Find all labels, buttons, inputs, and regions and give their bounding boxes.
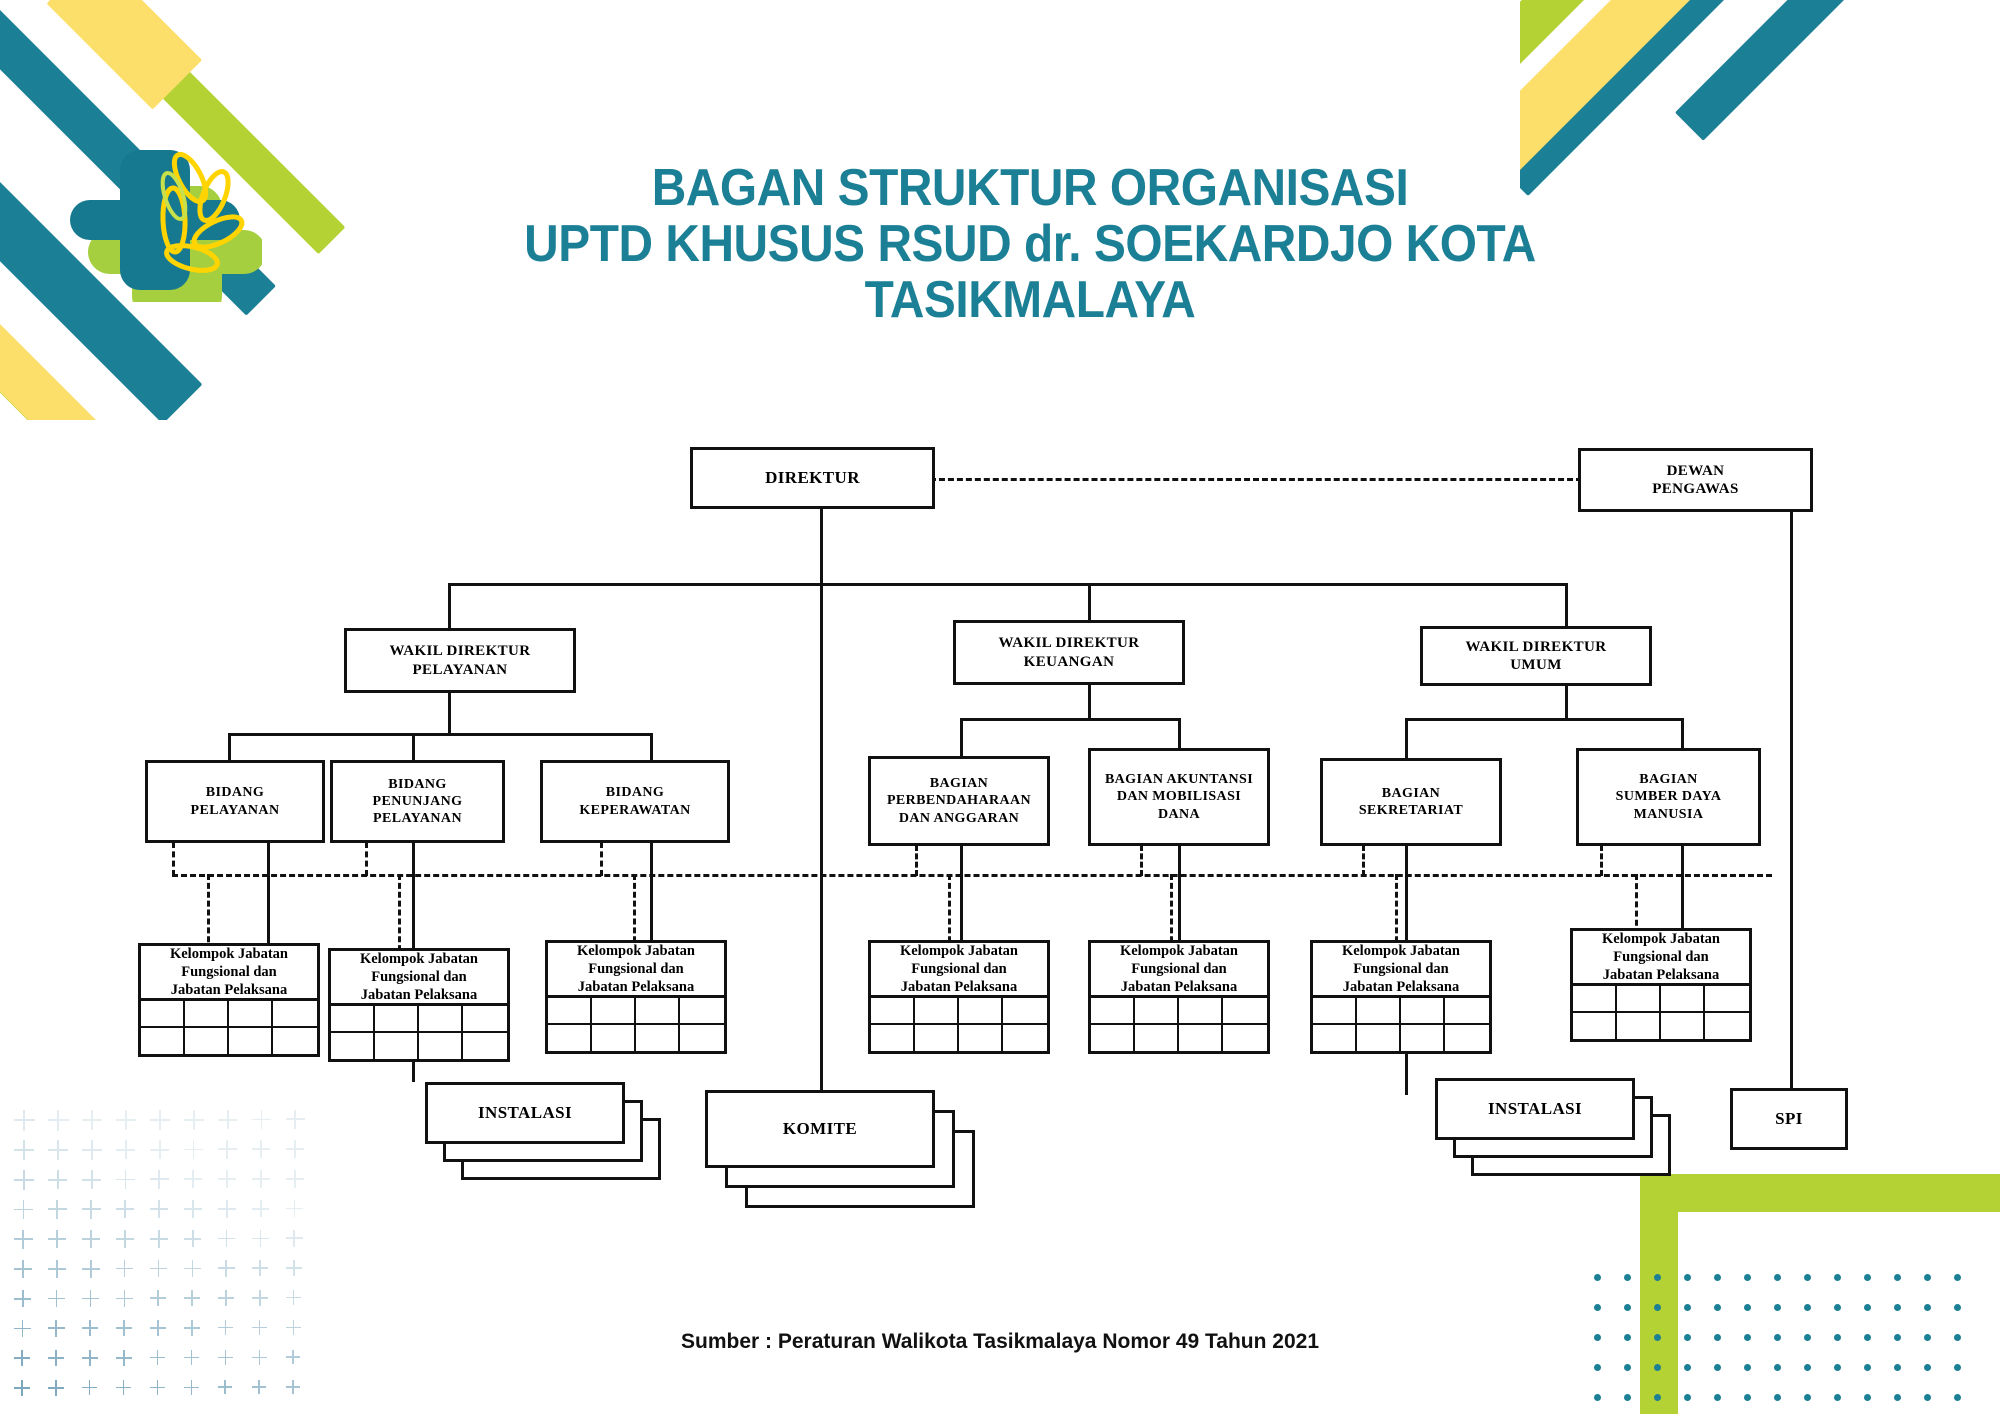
kjf-cell [1091,1025,1135,1052]
kjf-cell [636,1025,680,1052]
kjf-label: Kelompok Jabatan Fungsional dan Jabatan … [868,940,1050,998]
kjf-grid [1310,998,1492,1054]
kjf-cell [1223,1025,1267,1052]
kjf-cell [548,998,592,1025]
kjf-cell [141,1001,185,1028]
edge-bidang-bar [228,733,650,736]
kjf-cell [1179,1025,1223,1052]
kjf-cell [273,1001,317,1028]
kjf-cell [871,998,915,1025]
kjf-cell [1445,1025,1489,1052]
kjf-cell [1705,1013,1749,1040]
node-bidang-keperawatan-label: BIDANG KEPERAWATAN [579,784,690,818]
node-bidang-penunjang[interactable]: BIDANG PENUNJANG PELAYANAN [330,760,505,843]
edge-wadir-pelayanan-drop [448,583,451,630]
node-bagian-akuntansi[interactable]: BAGIAN AKUNTANSI DAN MOBILISASI DANA [1088,748,1270,846]
edge-bagian-keu-bar [960,718,1178,721]
kjf-cell [375,1033,419,1060]
node-komite-label: KOMITE [783,1119,857,1140]
kjf-grid [1088,998,1270,1054]
node-bidang-keperawatan[interactable]: BIDANG KEPERAWATAN [540,760,730,843]
kjf-cell [1313,998,1357,1025]
kjf-cell [1445,998,1489,1025]
edge-wp-stem [448,693,451,733]
kjf-group-5[interactable]: Kelompok Jabatan Fungsional dan Jabatan … [1088,940,1270,1054]
node-instalasi-kanan[interactable]: INSTALASI [1435,1078,1635,1140]
kjf-label: Kelompok Jabatan Fungsional dan Jabatan … [138,943,320,1001]
node-direktur-label: DIREKTUR [765,468,860,489]
kjf-label: Kelompok Jabatan Fungsional dan Jabatan … [1088,940,1270,998]
kjf-label: Kelompok Jabatan Fungsional dan Jabatan … [328,948,510,1006]
edge-kjf-7-dash-up [1600,845,1603,876]
edge-wadir-umum-drop [1565,583,1568,627]
edge-bagian-umum-bar [1405,718,1681,721]
edge-wadir-bar [448,583,1568,586]
kjf-cell [185,1028,229,1055]
node-direktur[interactable]: DIREKTUR [690,447,935,509]
kjf-label: Kelompok Jabatan Fungsional dan Jabatan … [545,940,727,998]
edge-bagian-sekretariat-drop [1405,718,1408,758]
kjf-cell [1223,998,1267,1025]
kjf-group-7[interactable]: Kelompok Jabatan Fungsional dan Jabatan … [1570,928,1752,1042]
kjf-cell [1313,1025,1357,1052]
node-bagian-sekretariat-label: BAGIAN SEKRETARIAT [1359,785,1463,819]
kjf-cell [1091,998,1135,1025]
kjf-cell [1135,998,1179,1025]
kjf-cell [1401,1025,1445,1052]
node-instalasi-kanan-label: INSTALASI [1488,1099,1582,1120]
edge-bidang-penunjang-drop [412,733,415,761]
kjf-cell [636,998,680,1025]
kjf-cell [592,998,636,1025]
org-chart: DIREKTUR DEWAN PENGAWAS WAKIL DIREKTUR P… [0,0,2000,1414]
node-bidang-penunjang-label: BIDANG PENUNJANG PELAYANAN [373,776,463,827]
kjf-cell [959,1025,1003,1052]
kjf-cell [548,1025,592,1052]
kjf-grid [138,1001,320,1057]
kjf-label: Kelompok Jabatan Fungsional dan Jabatan … [1570,928,1752,986]
node-wadir-umum-label: WAKIL DIREKTUR UMUM [1465,638,1606,675]
kjf-cell [592,1025,636,1052]
edge-kjf-5-dash-up [1140,845,1143,876]
edge-kjf-1-dash-up [172,842,175,876]
poster-page: BAGAN STRUKTUR ORGANISASI UPTD KHUSUS RS… [0,0,2000,1414]
kjf-grid [545,998,727,1054]
kjf-cell [419,1006,463,1033]
kjf-cell [463,1006,507,1033]
edge-dewan-spi-v [1790,508,1793,1088]
kjf-cell [419,1033,463,1060]
kjf-cell [1357,998,1401,1025]
kjf-cell [463,1033,507,1060]
kjf-group-1[interactable]: Kelompok Jabatan Fungsional dan Jabatan … [138,943,320,1057]
kjf-cell [1661,986,1705,1013]
kjf-group-6[interactable]: Kelompok Jabatan Fungsional dan Jabatan … [1310,940,1492,1054]
edge-direktur-komite [820,583,823,1090]
kjf-group-3[interactable]: Kelompok Jabatan Fungsional dan Jabatan … [545,940,727,1054]
kjf-cell [680,1025,724,1052]
node-instalasi-kiri-label: INSTALASI [478,1103,572,1124]
edge-bagian-sdm-drop [1681,718,1684,748]
kjf-cell [915,1025,959,1052]
edge-kjf-coordination-line [172,874,1772,877]
kjf-cell [915,998,959,1025]
kjf-cell [1617,986,1661,1013]
kjf-cell [1135,1025,1179,1052]
edge-wadir-keuangan-drop [1088,583,1091,621]
edge-bagian-perbendaharaan-drop [960,718,963,756]
kjf-cell [1661,1013,1705,1040]
kjf-cell [680,998,724,1025]
kjf-cell [1357,1025,1401,1052]
node-instalasi-kiri[interactable]: INSTALASI [425,1082,625,1144]
kjf-group-2[interactable]: Kelompok Jabatan Fungsional dan Jabatan … [328,948,510,1062]
source-caption: Sumber : Peraturan Walikota Tasikmalaya … [0,1330,2000,1354]
node-komite[interactable]: KOMITE [705,1090,935,1168]
node-wadir-umum[interactable]: WAKIL DIREKTUR UMUM [1420,626,1652,686]
kjf-cell [871,1025,915,1052]
node-bagian-sdm-label: BAGIAN SUMBER DAYA MANUSIA [1616,771,1722,822]
kjf-cell [1617,1013,1661,1040]
kjf-cell [331,1006,375,1033]
kjf-cell [1003,998,1047,1025]
node-spi[interactable]: SPI [1730,1088,1848,1150]
node-dewan-pengawas[interactable]: DEWAN PENGAWAS [1578,448,1813,512]
node-dewan-pengawas-label: DEWAN PENGAWAS [1652,462,1739,499]
edge-kjf-3-dash-up [600,842,603,876]
edge-kjf-2-dash-up [365,842,368,876]
edge-kjf-6-dash-up [1362,845,1365,876]
kjf-cell [331,1033,375,1060]
node-bagian-akuntansi-label: BAGIAN AKUNTANSI DAN MOBILISASI DANA [1105,771,1253,822]
kjf-cell [1003,1025,1047,1052]
kjf-cell [1573,986,1617,1013]
node-spi-label: SPI [1775,1109,1803,1130]
node-bagian-sekretariat[interactable]: BAGIAN SEKRETARIAT [1320,758,1502,846]
kjf-grid [328,1006,510,1062]
edge-kjf-4-dash-up [915,845,918,876]
kjf-label: Kelompok Jabatan Fungsional dan Jabatan … [1310,940,1492,998]
edge-bidang-pelayanan-drop [228,733,231,761]
edge-direktur-stem [820,505,823,583]
node-bidang-pelayanan-label: BIDANG PELAYANAN [191,784,280,818]
node-wadir-keuangan-label: WAKIL DIREKTUR KEUANGAN [998,634,1139,671]
kjf-cell [141,1028,185,1055]
kjf-cell [185,1001,229,1028]
edge-direktur-dewan [930,478,1582,481]
kjf-group-4[interactable]: Kelompok Jabatan Fungsional dan Jabatan … [868,940,1050,1054]
kjf-cell [1179,998,1223,1025]
edge-wu-stem [1565,685,1568,718]
node-wadir-pelayanan-label: WAKIL DIREKTUR PELAYANAN [389,642,530,679]
kjf-cell [229,1001,273,1028]
kjf-cell [1401,998,1445,1025]
kjf-cell [1573,1013,1617,1040]
kjf-grid [1570,986,1752,1042]
kjf-cell [273,1028,317,1055]
kjf-cell [959,998,1003,1025]
kjf-cell [229,1028,273,1055]
kjf-grid [868,998,1050,1054]
edge-wk-stem [1088,685,1091,718]
node-bagian-perbendaharaan-label: BAGIAN PERBENDAHARAAN DAN ANGGARAN [887,775,1031,826]
kjf-cell [375,1006,419,1033]
kjf-cell [1705,986,1749,1013]
node-bagian-sdm[interactable]: BAGIAN SUMBER DAYA MANUSIA [1576,748,1761,846]
node-wadir-keuangan[interactable]: WAKIL DIREKTUR KEUANGAN [953,620,1185,685]
edge-bidang-keperawatan-drop [650,733,653,761]
node-bidang-pelayanan[interactable]: BIDANG PELAYANAN [145,760,325,843]
node-bagian-perbendaharaan[interactable]: BAGIAN PERBENDAHARAAN DAN ANGGARAN [868,756,1050,846]
node-wadir-pelayanan[interactable]: WAKIL DIREKTUR PELAYANAN [344,628,576,693]
edge-bagian-akuntansi-drop [1178,718,1181,748]
